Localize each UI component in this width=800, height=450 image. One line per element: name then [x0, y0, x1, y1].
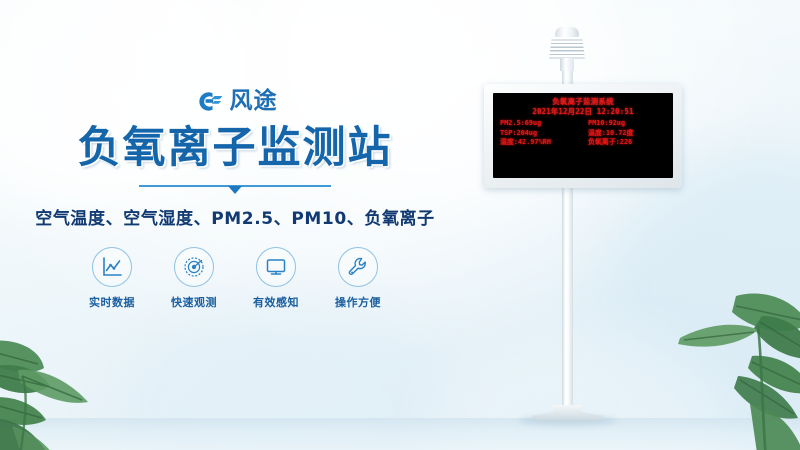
feature-item-fast-observation: 快速观测: [166, 247, 222, 310]
led-reading-temperature: 温度:10.72度: [583, 129, 667, 138]
feature-item-easy-operation: 操作方便: [330, 247, 386, 310]
divider-triangle-icon: [228, 186, 242, 194]
promo-banner: 风途 负氧离子监测站 空气温度、空气湿度、PM2.5、PM10、负氧离子: [0, 0, 800, 450]
fengtu-g-arrow-logo-icon: [193, 89, 223, 114]
feature-label: 快速观测: [166, 294, 222, 310]
feature-list: 实时数据 快速观测: [0, 247, 470, 310]
led-readings-grid: PM2.5:69ug PM10:92ug TSP:204ug 温度:10.72度…: [499, 119, 667, 147]
led-reading-negative-ions: 负氧离子:226: [583, 138, 667, 147]
sensor-cap: [555, 27, 579, 38]
feature-label: 操作方便: [330, 294, 386, 310]
led-reading-row: 湿度:42.97%RH 负氧离子:226: [499, 138, 667, 147]
feature-icon-circle: [256, 247, 296, 287]
led-display-panel[interactable]: 负氧离子监测系统 2021年12月22日 12:20:51 PM2.5:69ug…: [484, 84, 682, 188]
led-reading-pm25: PM2.5:69ug: [499, 119, 583, 128]
radar-signal-icon: [183, 256, 205, 278]
led-reading-pm10: PM10:92ug: [583, 119, 667, 128]
pole-base-flange: [531, 405, 604, 420]
radiation-shield-sensor-icon: [546, 27, 588, 71]
led-reading-row: PM2.5:69ug PM10:92ug: [499, 119, 667, 128]
wrench-icon: [347, 256, 369, 278]
brand-name: 风途: [230, 90, 278, 113]
ground-plane: [0, 418, 800, 450]
feature-item-effective-sensing: 有效感知: [248, 247, 304, 310]
background-wash: [600, 150, 800, 450]
feature-icon-circle: [92, 247, 132, 287]
monitor-screen-icon: [265, 256, 287, 278]
led-datetime: 2021年12月22日 12:20:51: [499, 107, 667, 117]
feature-item-realtime-data: 实时数据: [84, 247, 140, 310]
feature-icon-circle: [338, 247, 378, 287]
feature-icon-circle: [174, 247, 214, 287]
feature-label: 实时数据: [84, 294, 140, 310]
hero-copy-block: 风途 负氧离子监测站 空气温度、空气湿度、PM2.5、PM10、负氧离子: [0, 86, 470, 310]
led-reading-tsp: TSP:204ug: [499, 129, 583, 138]
feature-label: 有效感知: [248, 294, 304, 310]
line-chart-icon: [101, 256, 123, 278]
brand-logo: 风途: [0, 86, 470, 116]
sensor-neck: [560, 58, 574, 71]
led-reading-row: TSP:204ug 温度:10.72度: [499, 129, 667, 138]
page-subtitle: 空气温度、空气湿度、PM2.5、PM10、负氧离子: [0, 204, 470, 229]
title-divider: [139, 183, 331, 193]
sensor-louver-plates: [549, 37, 585, 59]
page-title: 负氧离子监测站: [0, 125, 470, 172]
led-title: 负氧离子监测系统: [499, 97, 667, 106]
led-reading-humidity: 湿度:42.97%RH: [499, 138, 583, 147]
led-screen: 负氧离子监测系统 2021年12月22日 12:20:51 PM2.5:69ug…: [493, 93, 673, 178]
